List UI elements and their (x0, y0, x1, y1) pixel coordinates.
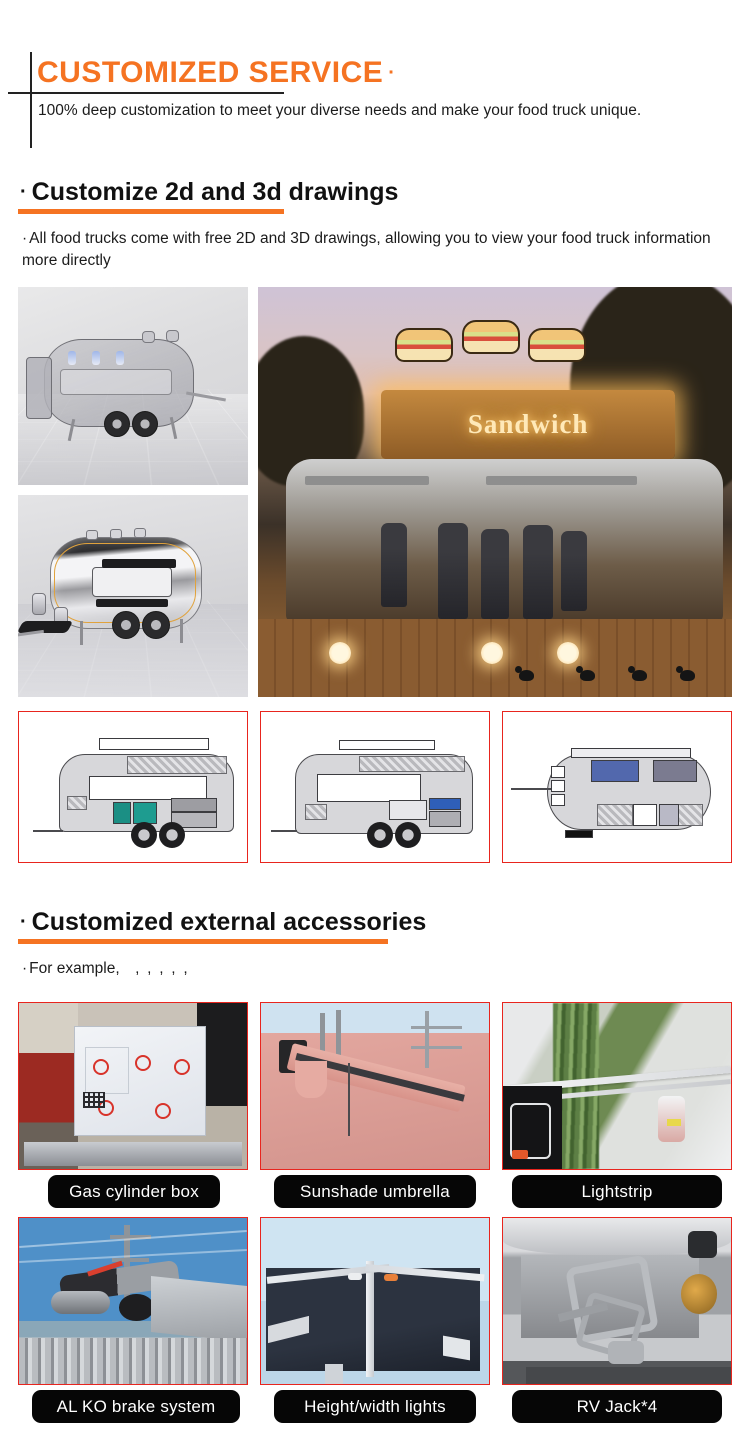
bird-1 (519, 670, 534, 681)
gas-cylinder-box[interactable] (18, 1002, 248, 1170)
page-title-tick: · (388, 62, 395, 84)
blueprint-floor-plan[interactable] (502, 711, 732, 863)
refrigeration-unit-1 (113, 802, 131, 824)
bird-3 (632, 670, 647, 681)
counter-blue (591, 760, 639, 782)
marker-light (512, 1150, 528, 1159)
section-1-note-text: All food trucks come with free 2D and 3D… (22, 230, 711, 269)
height-width-lights[interactable] (260, 1217, 490, 1385)
side-door-1 (551, 766, 565, 778)
ventilation-grille (83, 1092, 105, 1108)
cad-trailer-vent-1 (142, 331, 155, 343)
section-1-bullet: · (20, 181, 27, 203)
utility-pole-3 (425, 1011, 429, 1067)
brass-roller (681, 1274, 717, 1314)
cad-chrome-vent-2 (110, 529, 122, 539)
cad-trailer-door (26, 357, 52, 419)
rear-step (565, 830, 593, 838)
page-title: CUSTOMIZED SERVICE· (37, 56, 395, 90)
black-cap-fitting (688, 1231, 718, 1258)
rv-jack[interactable] (502, 1217, 732, 1385)
lightstrip[interactable] (502, 1002, 732, 1170)
side-hatch-2 (305, 804, 327, 820)
label-height-width-lights-text: Height/width lights (304, 1397, 446, 1417)
label-gas-cylinder-box: Gas cylinder box (48, 1175, 220, 1208)
control-panel-2 (429, 798, 461, 810)
awning-valance (295, 1061, 327, 1098)
label-lightstrip: Lightstrip (512, 1175, 722, 1208)
blueprint-canvas-3 (503, 712, 731, 862)
cad-scene-background (18, 287, 248, 485)
cad-chrome-vent-3 (134, 528, 146, 538)
cabinet-2 (429, 811, 461, 827)
chassis-rail (24, 1142, 243, 1165)
section-2-underline (18, 939, 388, 944)
ground-shadow (526, 1367, 731, 1384)
refrigeration-unit-2 (133, 802, 157, 824)
hitch-head (51, 1291, 110, 1314)
hanging-cable (348, 1063, 350, 1136)
service-window-2 (317, 774, 421, 802)
side-awning-edge-right (443, 1335, 470, 1360)
support-post (325, 1364, 343, 1384)
cad-trailer-lamp-2 (92, 351, 100, 365)
roof-hatch-2 (359, 756, 465, 772)
label-lightstrip-text: Lightstrip (582, 1182, 653, 1202)
wheel-2a (367, 822, 393, 848)
sunshade-umbrella[interactable] (260, 1002, 490, 1170)
section-1-heading-text: Customize 2d and 3d drawings (32, 178, 399, 206)
label-sunshade-umbrella-text: Sunshade umbrella (300, 1182, 450, 1202)
globe-light-3 (557, 642, 579, 664)
cad-chrome-wheel-2 (142, 611, 170, 639)
cad-chrome-wheel-1 (112, 611, 140, 639)
red-logo-circle-5 (155, 1103, 171, 1119)
person-4 (523, 525, 553, 619)
person-3 (481, 529, 509, 619)
side-door-3 (551, 794, 565, 806)
truck-awning-right (486, 476, 638, 485)
utility-pole-2 (336, 1010, 341, 1056)
griddle-unit-1 (171, 798, 217, 812)
cad-chrome-gas-tank-1 (32, 593, 46, 615)
clearance-light-amber (384, 1274, 398, 1281)
sandwich-sign-text: Sandwich (381, 390, 675, 460)
label-al-ko-brake-system-text: AL KO brake system (57, 1397, 216, 1417)
trailer-frame-edge (151, 1276, 247, 1343)
section-2-heading: ·Customized external accessories (20, 908, 426, 940)
section-1-heading: ·Customize 2d and 3d drawings (20, 178, 398, 210)
lightstrip-photo (503, 1003, 731, 1169)
blueprint-canvas-1 (19, 712, 247, 862)
burger-graphic-3 (528, 328, 586, 362)
yellow-tag (667, 1119, 681, 1126)
rv-jack-photo (503, 1218, 731, 1384)
burger-graphic-2 (462, 320, 520, 354)
globe-light-2 (481, 642, 503, 664)
label-rv-jack: RV Jack*4 (512, 1390, 722, 1423)
cad-trailer-vent-2 (166, 330, 179, 342)
tow-tongue-2 (271, 830, 297, 832)
side-hatch-1 (67, 796, 87, 810)
corner-trim-vertical (366, 1261, 374, 1377)
blueprint-canvas-2 (261, 712, 489, 862)
wheel-1a (131, 822, 157, 848)
metal-gate (19, 1338, 247, 1384)
person-1 (381, 523, 407, 607)
crossarm-1 (411, 1026, 461, 1029)
service-window-1 (89, 776, 207, 800)
bird-4 (680, 670, 695, 681)
cad-trailer-lamp-1 (68, 351, 76, 365)
section-1-note-bullet: · (22, 230, 27, 247)
cad-render-transparent-trailer[interactable] (18, 287, 248, 485)
stove-burners (633, 804, 657, 826)
jack-foot-plate (608, 1341, 644, 1364)
burger-graphic-1 (395, 328, 453, 362)
cad-scene-background-2 (18, 495, 248, 697)
person-2 (438, 523, 468, 619)
tow-tongue-3 (511, 788, 551, 790)
cad-render-chrome-trailer[interactable] (18, 495, 248, 697)
crossarm-2 (411, 1046, 461, 1049)
blueprint-side-view-left[interactable] (18, 711, 248, 863)
cad-trailer-1 (44, 339, 194, 427)
coupling-bellows (119, 1294, 153, 1321)
page-title-text: CUSTOMIZED SERVICE (37, 56, 383, 89)
blueprint-side-view-right[interactable] (260, 711, 490, 863)
section-1-note: ·All food trucks come with free 2D and 3… (22, 228, 727, 272)
section-2-note-bullet: · (22, 960, 27, 977)
hero-subtitle: 100% deep customization to meet your div… (38, 100, 698, 122)
wrapped-cylinder-box (74, 1026, 206, 1136)
section-1-underline (18, 209, 284, 214)
person-5 (561, 531, 587, 611)
cad-trailer-wheel-1 (104, 411, 130, 437)
sandwich-photo-scene: Sandwich (258, 287, 732, 697)
sandwich-marquee-sign: Sandwich (381, 390, 675, 460)
height-width-lights-photo (261, 1218, 489, 1384)
photo-sandwich-food-truck[interactable]: Sandwich (258, 287, 732, 697)
roof-rack-2 (339, 740, 435, 750)
label-gas-cylinder-box-text: Gas cylinder box (69, 1182, 199, 1202)
cad-trailer-window (60, 369, 172, 395)
counter-gray (653, 760, 697, 782)
label-al-ko-brake-system: AL KO brake system (32, 1390, 240, 1423)
cad-chrome-leg-2 (180, 619, 183, 643)
side-door-2 (551, 780, 565, 792)
tow-tongue-1 (33, 830, 63, 832)
cad-trailer-lamp-3 (116, 351, 124, 365)
red-logo-circle-3 (174, 1059, 190, 1075)
label-rv-jack-text: RV Jack*4 (577, 1397, 658, 1417)
header-vertical-rule (30, 52, 32, 148)
section-2-note-text: For example, , , , , , (29, 960, 187, 977)
label-height-width-lights: Height/width lights (274, 1390, 476, 1423)
truck-awning-left (305, 476, 428, 485)
floor-hatch-left (597, 804, 633, 826)
al-ko-brake-system[interactable] (18, 1217, 248, 1385)
cad-chrome-vent-1 (86, 530, 98, 540)
bird-2 (580, 670, 595, 681)
sunshade-umbrella-photo (261, 1003, 489, 1169)
power-line-1 (19, 1230, 247, 1247)
roof-hatch-1 (127, 756, 227, 774)
wheel-2b (395, 822, 421, 848)
section-2-heading-text: Customized external accessories (32, 908, 427, 936)
red-logo-circle-2 (135, 1055, 151, 1071)
floor-plan-roofline (571, 748, 691, 758)
cad-trailer-wheel-2 (132, 411, 158, 437)
cad-chrome-leg-1 (80, 621, 83, 645)
sink-unit (659, 804, 679, 826)
gas-cylinder-box-photo (19, 1003, 247, 1169)
clearance-light-white (348, 1273, 362, 1280)
header-horizontal-rule (8, 92, 284, 94)
oven-unit-2 (389, 800, 427, 820)
roof-rack-1 (99, 738, 209, 750)
section-2-note: ·For example, , , , , , (22, 958, 727, 980)
al-ko-brake-photo (19, 1218, 247, 1384)
cad-trailer-2 (50, 537, 202, 629)
wheel-1b (159, 822, 185, 848)
label-sunshade-umbrella: Sunshade umbrella (274, 1175, 476, 1208)
section-2-bullet: · (20, 911, 27, 933)
